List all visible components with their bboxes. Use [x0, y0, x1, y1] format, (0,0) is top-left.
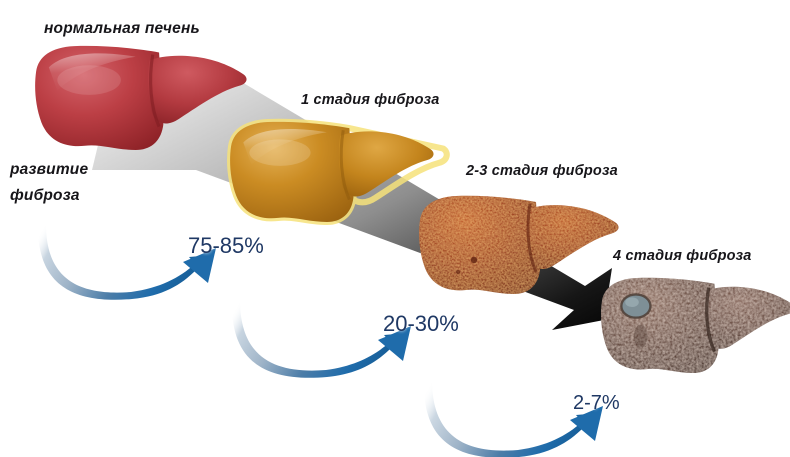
label-layer: нормальная печень развитие фиброза 1 ста…: [0, 0, 790, 457]
percentage-stage-2-to-3: 20-30%: [383, 311, 459, 337]
percentage-stage-1-to-2: 75-85%: [188, 233, 264, 259]
label-stage-2-3: 2-3 стадия фиброза: [466, 163, 618, 179]
label-fibrosis-development: развитие фиброза: [10, 157, 128, 209]
label-stage-4: 4 стадия фиброза: [613, 248, 752, 264]
fibrosis-progression-diagram: нормальная печень развитие фиброза 1 ста…: [0, 0, 790, 457]
label-normal-liver: нормальная печень: [44, 20, 200, 38]
label-stage-1: 1 стадия фиброза: [301, 92, 440, 108]
percentage-stage-3-to-4: 2-7%: [573, 392, 620, 415]
